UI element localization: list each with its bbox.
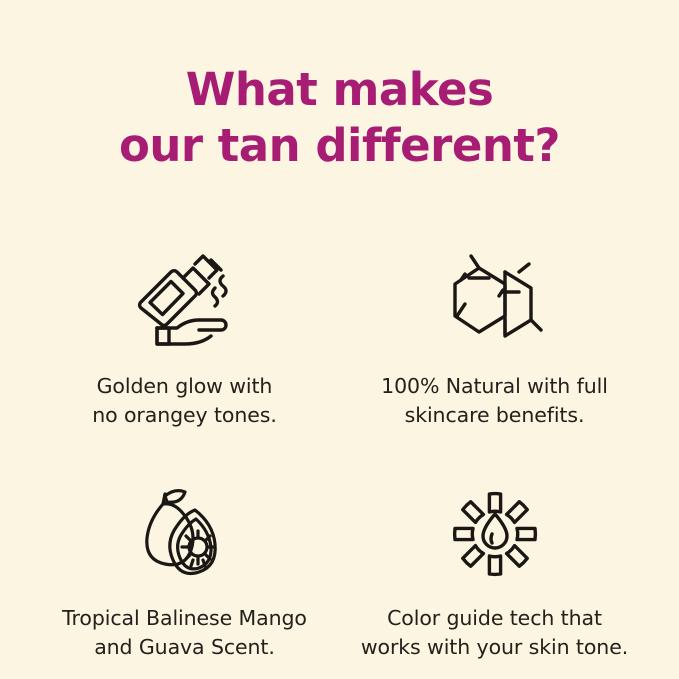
feature-caption-line-1: Color guide tech that [361, 604, 628, 633]
feature-caption: Color guide tech that works with your sk… [361, 604, 628, 662]
feature-caption-line-2: no orangey tones. [92, 401, 277, 430]
feature-grid: Golden glow with no orangey tones. [30, 254, 650, 662]
feature-caption: 100% Natural with full skincare benefits… [381, 372, 608, 430]
page-title-line-1: What makes [40, 62, 640, 118]
feature-caption-line-1: Golden glow with [92, 372, 277, 401]
feature-caption-line-2: works with your skin tone. [361, 633, 628, 662]
feature-caption-line-1: 100% Natural with full [381, 372, 608, 401]
feature-caption-line-2: and Guava Scent. [62, 633, 307, 662]
feature-item-golden-glow: Golden glow with no orangey tones. [30, 254, 340, 430]
color-wheel-droplet-icon [443, 486, 547, 582]
feature-item-scent: Tropical Balinese Mango and Guava Scent. [30, 486, 340, 662]
mango-guava-fruit-icon [133, 486, 237, 582]
molecule-hexagons-icon [443, 254, 547, 350]
feature-item-natural: 100% Natural with full skincare benefits… [340, 254, 650, 430]
feature-caption: Tropical Balinese Mango and Guava Scent. [62, 604, 307, 662]
spray-bottle-hand-icon [133, 254, 237, 350]
feature-caption-line-1: Tropical Balinese Mango [62, 604, 307, 633]
page-title: What makes our tan different? [40, 62, 640, 174]
feature-caption-line-2: skincare benefits. [381, 401, 608, 430]
feature-item-color-guide: Color guide tech that works with your sk… [340, 486, 650, 662]
product-benefits-panel: What makes our tan different? [0, 0, 679, 679]
feature-caption: Golden glow with no orangey tones. [92, 372, 277, 430]
page-title-line-2: our tan different? [40, 118, 640, 174]
